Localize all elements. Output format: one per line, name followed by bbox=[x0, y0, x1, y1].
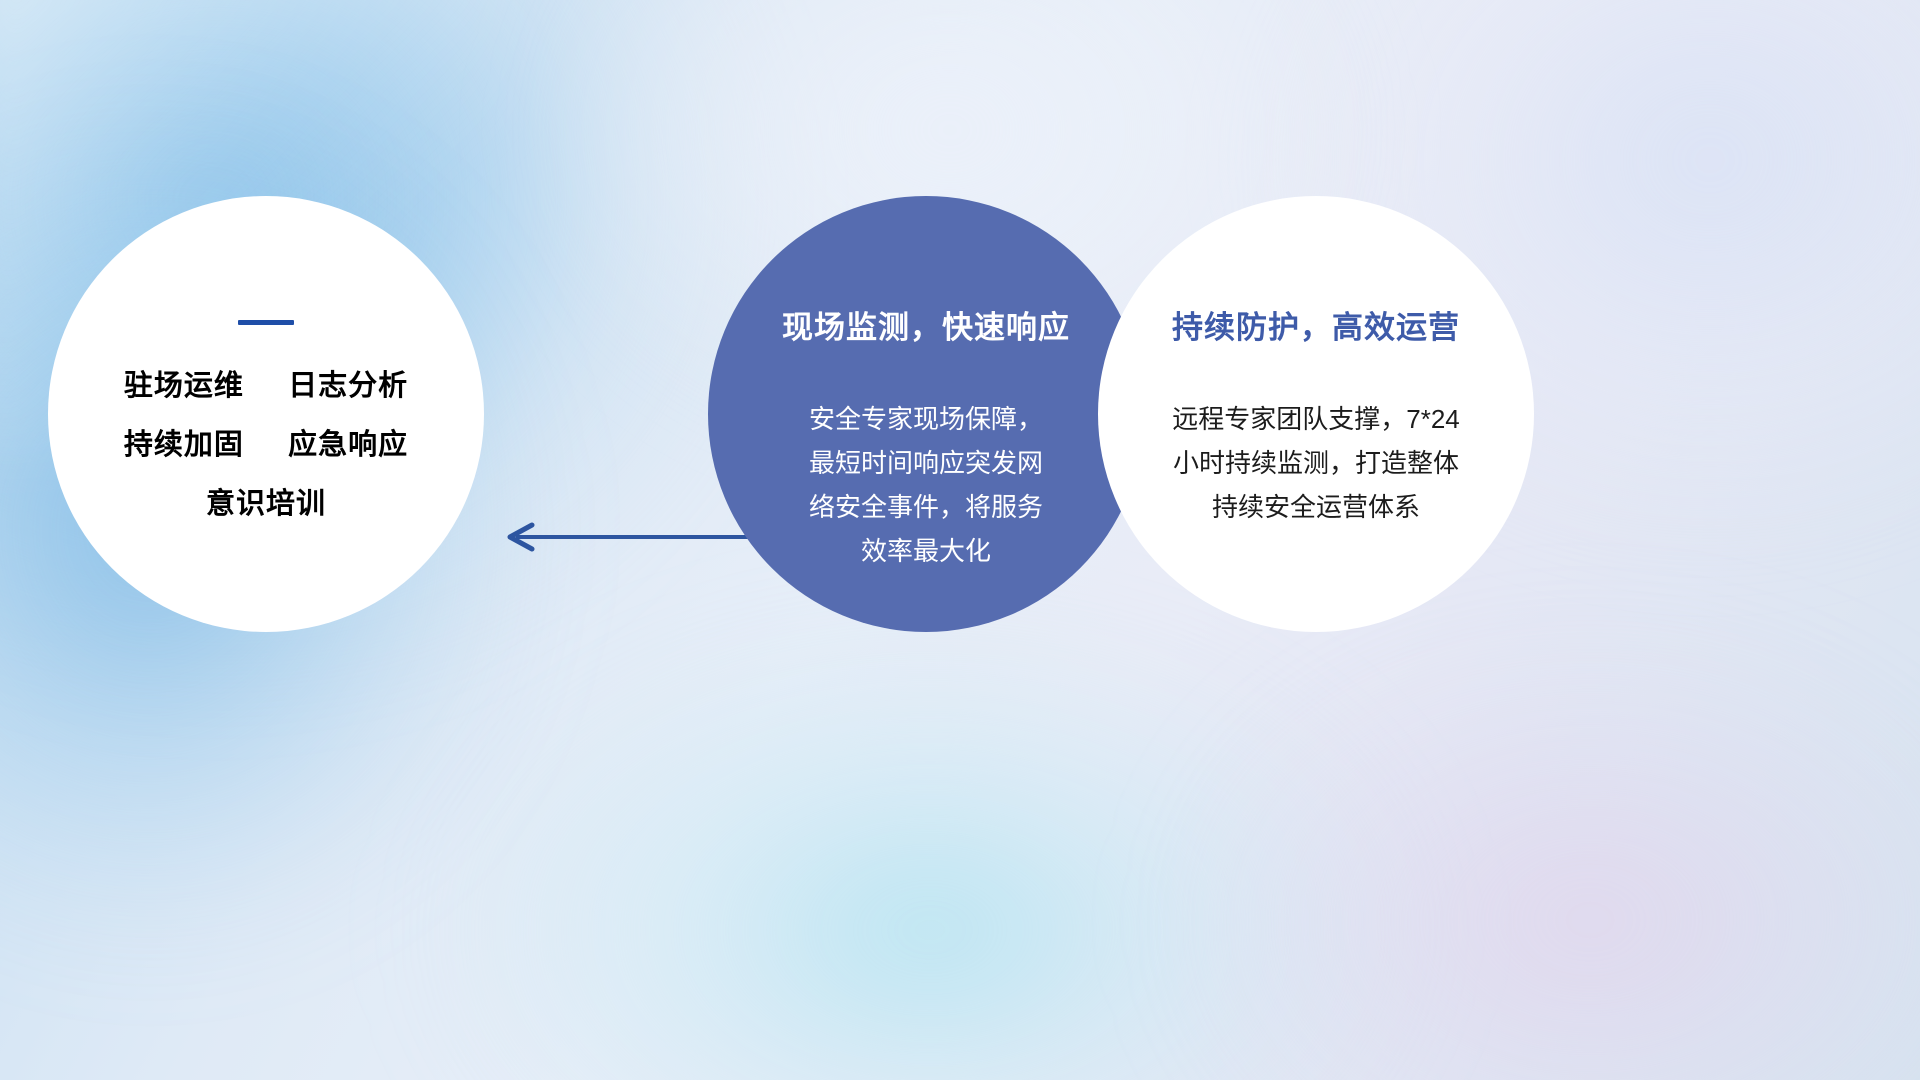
body-line: 小时持续监测，打造整体 bbox=[1140, 441, 1492, 485]
body-line: 效率最大化 bbox=[768, 529, 1084, 573]
continuous-protection-body: 远程专家团队支撑，7*24 小时持续监测，打造整体 持续安全运营体系 bbox=[1140, 397, 1492, 529]
body-line: 持续安全运营体系 bbox=[1140, 485, 1492, 529]
keyword-row: 意识培训 bbox=[48, 475, 484, 534]
capabilities-circle[interactable]: 驻场运维 日志分析 持续加固 应急响应 意识培训 bbox=[48, 196, 484, 632]
capabilities-keyword-list: 驻场运维 日志分析 持续加固 应急响应 意识培训 bbox=[48, 357, 484, 534]
continuous-protection-circle[interactable]: 持续防护，高效运营 远程专家团队支撑，7*24 小时持续监测，打造整体 持续安全… bbox=[1098, 196, 1534, 632]
onsite-monitoring-body: 安全专家现场保障， 最短时间响应突发网 络安全事件，将服务 效率最大化 bbox=[768, 397, 1084, 573]
body-line: 安全专家现场保障， bbox=[768, 397, 1084, 441]
accent-rule-divider bbox=[238, 320, 294, 325]
body-line: 络安全事件，将服务 bbox=[768, 485, 1084, 529]
body-line: 远程专家团队支撑，7*24 bbox=[1140, 397, 1492, 441]
keyword-primary: 持续加固 bbox=[124, 429, 244, 461]
body-line: 最短时间响应突发网 bbox=[768, 441, 1084, 485]
keyword-secondary: 应急响应 bbox=[288, 429, 408, 461]
slide-canvas: 驻场运维 日志分析 持续加固 应急响应 意识培训 现场监测，快速响应 安全专家现… bbox=[0, 0, 1920, 1080]
keyword-primary: 意识培训 bbox=[206, 488, 326, 520]
background-glow-bottom-pink bbox=[1180, 640, 1920, 1080]
onsite-monitoring-title: 现场监测，快速响应 bbox=[782, 302, 1070, 347]
keyword-secondary: 日志分析 bbox=[288, 370, 408, 402]
keyword-primary: 驻场运维 bbox=[124, 370, 244, 402]
keyword-row: 驻场运维 日志分析 bbox=[48, 357, 484, 416]
continuous-protection-title: 持续防护，高效运营 bbox=[1172, 302, 1460, 347]
onsite-monitoring-circle[interactable]: 现场监测，快速响应 安全专家现场保障， 最短时间响应突发网 络安全事件，将服务 … bbox=[708, 196, 1144, 632]
keyword-row: 持续加固 应急响应 bbox=[48, 416, 484, 475]
